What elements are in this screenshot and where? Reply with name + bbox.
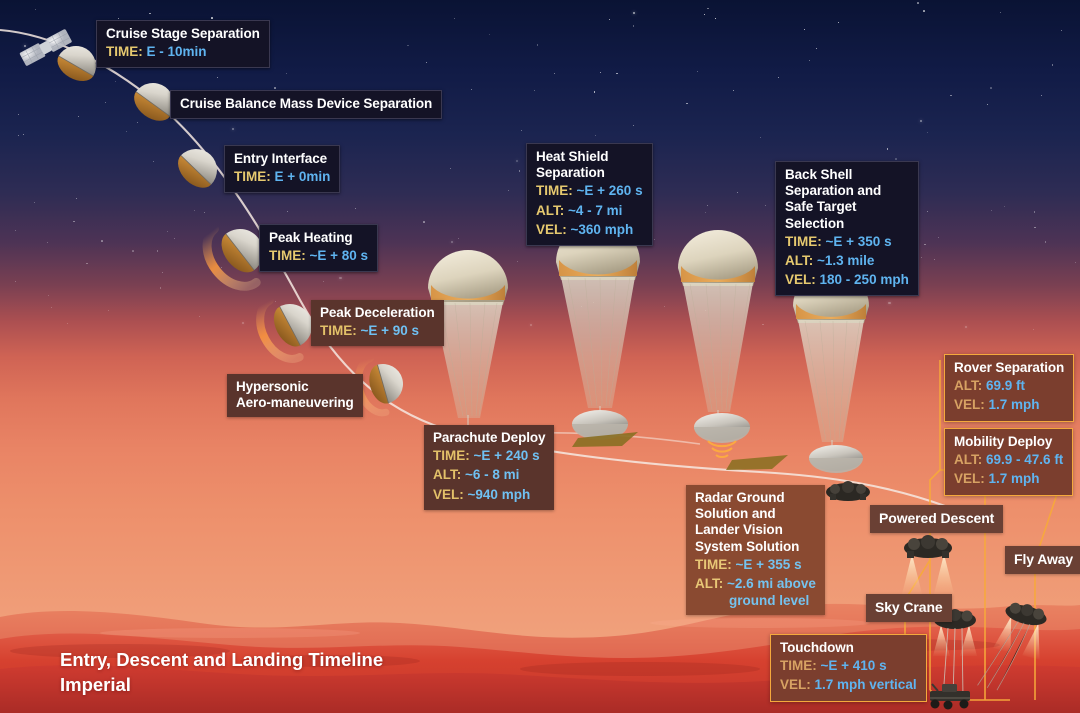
event-title: Radar Ground Solution and Lander Vision …	[695, 490, 816, 555]
event-row: VEL: 1.7 mph	[954, 397, 1040, 412]
label-heat-shield-separation[interactable]: Heat Shield Separation TIME: ~E + 260 s …	[526, 143, 653, 246]
event-title: Heat Shield Separation	[536, 149, 643, 181]
event-title: Entry Interface	[234, 151, 330, 167]
event-title: Parachute Deploy	[433, 430, 545, 446]
event-title: Peak Heating	[269, 230, 368, 246]
label-mobility-deploy[interactable]: Mobility Deploy ALT: 69.9 - 47.6 ft VEL:…	[944, 428, 1073, 496]
event-title: Mobility Deploy	[954, 434, 1063, 450]
event-row-continuation: ground level	[695, 593, 816, 609]
label-cruise-stage-separation[interactable]: Cruise Stage Separation TIME: E - 10min	[96, 20, 270, 68]
event-title: Rover Separation	[954, 360, 1064, 376]
label-cruise-balance-mass-device-separation[interactable]: Cruise Balance Mass Device Separation	[170, 90, 442, 119]
event-row: ALT: ~4 - 7 mi	[536, 203, 622, 218]
event-row: TIME: ~E + 260 s	[536, 183, 643, 198]
event-row: TIME: E + 0min	[234, 169, 330, 184]
event-row: VEL: 180 - 250 mph	[785, 272, 909, 287]
event-row: TIME: E - 10min	[106, 44, 207, 59]
label-peak-heating[interactable]: Peak Heating TIME: ~E + 80 s	[259, 224, 378, 272]
page-title: Entry, Descent and Landing Timeline Impe…	[60, 648, 383, 697]
label-sky-crane[interactable]: Sky Crane	[866, 594, 952, 622]
event-title: Cruise Balance Mass Device Separation	[180, 96, 432, 112]
label-entry-interface[interactable]: Entry Interface TIME: E + 0min	[224, 145, 340, 193]
event-row: ALT: ~1.3 mile	[785, 253, 874, 268]
label-back-shell-separation[interactable]: Back Shell Separation and Safe Target Se…	[775, 161, 919, 296]
event-title: Powered Descent	[879, 510, 994, 527]
label-rover-separation[interactable]: Rover Separation ALT: 69.9 ft VEL: 1.7 m…	[944, 354, 1074, 422]
event-row: TIME: ~E + 410 s	[780, 658, 887, 673]
event-row: TIME: ~E + 80 s	[269, 248, 368, 263]
event-row: ALT: 69.9 ft	[954, 378, 1025, 393]
event-row: ALT: ~2.6 mi above	[695, 576, 816, 591]
event-row: VEL: 1.7 mph	[954, 471, 1040, 486]
label-parachute-deploy[interactable]: Parachute Deploy TIME: ~E + 240 s ALT: ~…	[424, 425, 554, 510]
event-row: ALT: 69.9 - 47.6 ft	[954, 452, 1063, 467]
label-hypersonic-aero-maneuvering[interactable]: Hypersonic Aero-maneuvering	[227, 374, 363, 417]
event-row: TIME: ~E + 90 s	[320, 323, 419, 338]
label-radar-ground-solution[interactable]: Radar Ground Solution and Lander Vision …	[686, 485, 825, 615]
event-row: ALT: ~6 - 8 mi	[433, 467, 519, 482]
edl-timeline-infographic: Cruise Stage Separation TIME: E - 10min …	[0, 0, 1080, 713]
label-powered-descent[interactable]: Powered Descent	[870, 505, 1003, 533]
event-row: VEL: 1.7 mph vertical	[780, 677, 917, 692]
event-title: Hypersonic Aero-maneuvering	[236, 379, 354, 411]
event-title: Back Shell Separation and Safe Target Se…	[785, 167, 909, 232]
event-row: TIME: ~E + 355 s	[695, 557, 802, 572]
label-fly-away[interactable]: Fly Away	[1005, 546, 1080, 574]
event-title: Cruise Stage Separation	[106, 26, 260, 42]
event-row: VEL: ~360 mph	[536, 222, 633, 237]
event-row: VEL: ~940 mph	[433, 487, 530, 502]
event-title: Fly Away	[1014, 551, 1073, 568]
label-peak-deceleration[interactable]: Peak Deceleration TIME: ~E + 90 s	[311, 300, 444, 346]
label-touchdown[interactable]: Touchdown TIME: ~E + 410 s VEL: 1.7 mph …	[770, 634, 927, 702]
event-title: Touchdown	[780, 640, 917, 656]
page-title-line1: Entry, Descent and Landing Timeline	[60, 648, 383, 673]
page-title-line2: Imperial	[60, 673, 383, 698]
event-title: Peak Deceleration	[320, 305, 435, 321]
event-row: TIME: ~E + 350 s	[785, 234, 892, 249]
event-title: Sky Crane	[875, 599, 943, 616]
event-row: TIME: ~E + 240 s	[433, 448, 540, 463]
